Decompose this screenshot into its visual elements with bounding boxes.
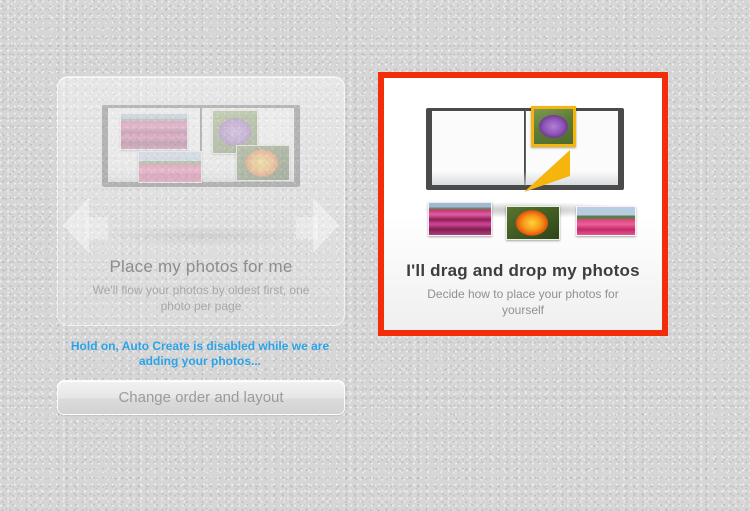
manual-card-title: I'll drag and drop my photos xyxy=(384,261,662,281)
drag-cursor[interactable] xyxy=(524,106,580,192)
pink-field-horizon-photo[interactable] xyxy=(576,206,636,236)
auto-card-subtitle: We'll flow your photos by oldest first, … xyxy=(80,282,322,314)
purple-tulip-photo xyxy=(534,109,573,144)
drag-pointer-tail-icon xyxy=(524,150,570,192)
drag-cursor-photo-frame xyxy=(531,106,576,147)
auto-place-photos-card[interactable]: Place my photos for me We'll flow your p… xyxy=(57,76,345,326)
manual-drag-drop-card[interactable]: I'll drag and drop my photos Decide how … xyxy=(384,78,662,330)
right-arrow-icon xyxy=(313,197,339,253)
orange-tulip-photo xyxy=(236,145,290,181)
orange-tulip-photo[interactable] xyxy=(506,206,560,240)
pink-tulip-field-photo[interactable] xyxy=(428,202,492,236)
pink-tulip-field-photo xyxy=(120,113,188,150)
manual-drag-drop-card-highlight: I'll drag and drop my photos Decide how … xyxy=(378,72,668,336)
pink-field-horizon-photo xyxy=(138,151,202,183)
change-order-and-layout-button[interactable]: Change order and layout xyxy=(57,380,345,415)
auto-create-disabled-status: Hold on, Auto Create is disabled while w… xyxy=(57,339,343,369)
manual-card-subtitle: Decide how to place your photos for your… xyxy=(406,286,640,318)
open-photo-book xyxy=(102,105,300,187)
layout-chooser-screen: Place my photos for me We'll flow your p… xyxy=(0,0,750,511)
book-shadow xyxy=(98,227,310,245)
auto-card-title: Place my photos for me xyxy=(58,257,344,277)
left-arrow-icon xyxy=(63,197,89,253)
